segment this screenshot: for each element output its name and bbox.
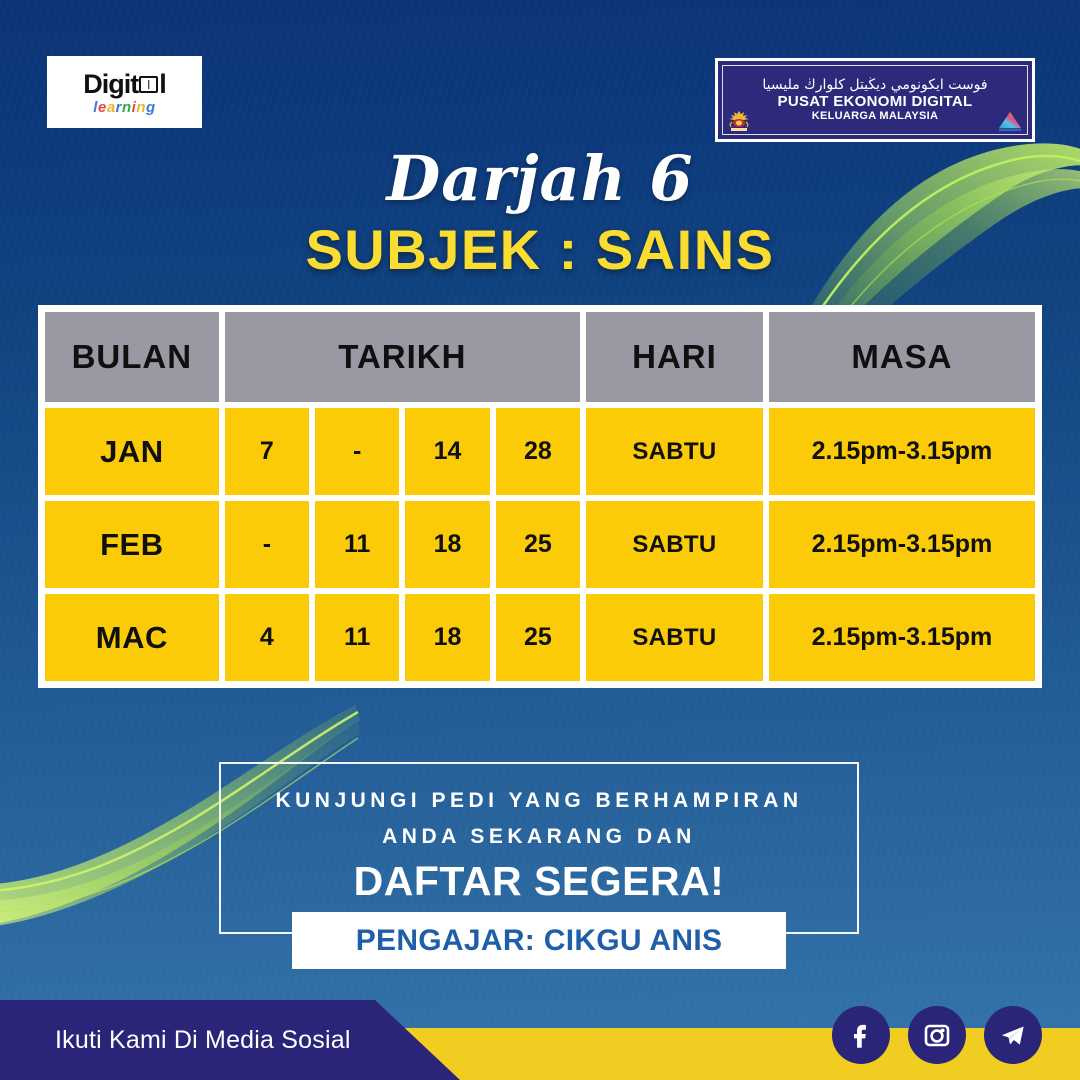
cell-date: - (312, 405, 402, 498)
cell-date: 18 (402, 591, 492, 684)
table-row: MAC 4 11 18 25 SABTU 2.15pm-3.15pm (42, 591, 1038, 684)
teacher-name-banner: PENGAJAR: CIKGU ANIS (292, 912, 786, 969)
teacher-name-label: PENGAJAR: CIKGU ANIS (356, 924, 723, 958)
column-header-tarikh: TARIKH (222, 309, 583, 405)
subject-title: SUBJEK : SAINS (0, 222, 1080, 278)
instagram-link[interactable] (908, 1006, 966, 1064)
cell-date: 4 (222, 591, 312, 684)
cell-date: 25 (493, 591, 583, 684)
cta-headline: DAFTAR SEGERA! (221, 859, 857, 904)
cell-time: 2.15pm-3.15pm (766, 591, 1038, 684)
digital-logo-learning-text: learning (93, 100, 155, 115)
cell-date: 18 (402, 498, 492, 591)
title-block: Darjah 6 SUBJEK : SAINS (0, 148, 1080, 278)
footer-navy-banner: Ikuti Kami Di Media Sosial (0, 1000, 460, 1080)
table-header: BULAN TARIKH HARI MASA (42, 309, 1038, 405)
cell-day: SABTU (583, 498, 766, 591)
social-links (832, 1006, 1042, 1064)
learning-letter: n (136, 99, 146, 116)
table-row: JAN 7 - 14 28 SABTU 2.15pm-3.15pm (42, 405, 1038, 498)
pusat-ekonomi-digital-badge: فوست ايكونومي ديڬيتل كلوارڬ مليسيا PUSAT… (715, 58, 1035, 142)
learning-letter: a (107, 99, 116, 116)
cell-time: 2.15pm-3.15pm (766, 498, 1038, 591)
cell-month: JAN (42, 405, 222, 498)
grade-title: Darjah 6 (0, 148, 1080, 210)
digital-logo-text-part2: l (159, 71, 166, 98)
column-header-hari: HARI (583, 309, 766, 405)
footer-social-label: Ikuti Kami Di Media Sosial (55, 1026, 351, 1055)
cell-date: - (222, 498, 312, 591)
digital-logo-text-part1: Digit (83, 71, 138, 98)
malaysia-coat-of-arms-icon (727, 110, 751, 132)
instagram-icon (921, 1019, 953, 1051)
badge-title-line1: PUSAT EKONOMI DIGITAL (778, 94, 973, 110)
cell-time: 2.15pm-3.15pm (766, 405, 1038, 498)
cell-day: SABTU (583, 405, 766, 498)
cell-date: 11 (312, 591, 402, 684)
cell-month: FEB (42, 498, 222, 591)
book-icon (139, 76, 158, 93)
table-header-row: BULAN TARIKH HARI MASA (42, 309, 1038, 405)
learning-letter: n (122, 99, 132, 116)
telegram-icon (996, 1018, 1030, 1052)
class-schedule-table: BULAN TARIKH HARI MASA JAN 7 - 14 28 SAB… (38, 305, 1042, 688)
cell-date: 11 (312, 498, 402, 591)
column-header-bulan: BULAN (42, 309, 222, 405)
cell-date: 14 (402, 405, 492, 498)
cell-month: MAC (42, 591, 222, 684)
digital-logo-wordmark: Digit l (83, 71, 166, 98)
cell-date: 7 (222, 405, 312, 498)
badge-jawi-text: فوست ايكونومي ديڬيتل كلوارڬ مليسيا (762, 78, 987, 93)
badge-title-line2: KELUARGA MALAYSIA (812, 111, 939, 123)
telegram-link[interactable] (984, 1006, 1042, 1064)
learning-letter: e (98, 99, 107, 116)
table-body: JAN 7 - 14 28 SABTU 2.15pm-3.15pm FEB - … (42, 405, 1038, 684)
learning-letter: g (146, 99, 156, 116)
cell-date: 28 (493, 405, 583, 498)
cell-date: 25 (493, 498, 583, 591)
kkmm-triangle-logo-icon (997, 110, 1023, 132)
cell-day: SABTU (583, 591, 766, 684)
facebook-link[interactable] (832, 1006, 890, 1064)
cta-line-1: KUNJUNGI PEDI YANG BERHAMPIRAN (221, 788, 857, 814)
digital-learning-logo: Digit l learning (47, 56, 202, 128)
cta-line-2: ANDA SEKARANG DAN (221, 824, 857, 850)
facebook-icon (844, 1018, 878, 1052)
column-header-masa: MASA (766, 309, 1038, 405)
table-row: FEB - 11 18 25 SABTU 2.15pm-3.15pm (42, 498, 1038, 591)
call-to-action-box: KUNJUNGI PEDI YANG BERHAMPIRAN ANDA SEKA… (219, 762, 859, 934)
poster-canvas: Digit l learning فوست ايكونومي ديڬيتل كل… (0, 0, 1080, 1080)
